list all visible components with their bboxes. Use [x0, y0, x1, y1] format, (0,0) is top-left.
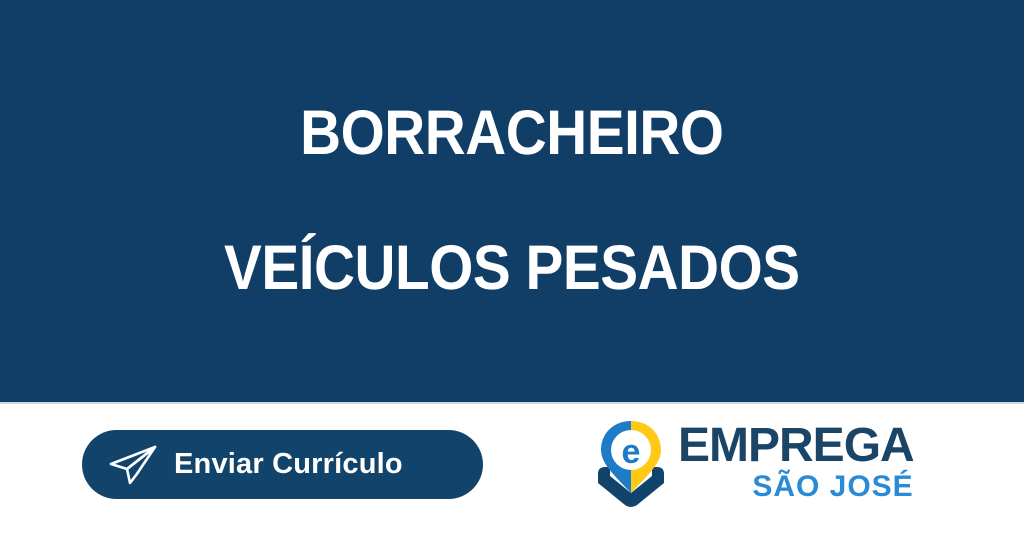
brand-name: EMPREGA — [678, 422, 914, 469]
send-resume-label: Enviar Currículo — [174, 448, 403, 481]
paper-plane-icon — [104, 442, 162, 488]
svg-text:e: e — [622, 433, 641, 471]
send-resume-button[interactable]: Enviar Currículo — [82, 430, 483, 499]
brand-logo[interactable]: e EMPREGA SÃO JOSÉ — [592, 419, 922, 511]
job-banner: BORRACHEIRO VEÍCULOS PESADOS — [0, 0, 1024, 402]
brand-city: SÃO JOSÉ — [752, 471, 913, 503]
page-title: BORRACHEIRO VEÍCULOS PESADOS — [206, 32, 818, 369]
job-title-line-2: VEÍCULOS PESADOS — [224, 235, 800, 302]
job-posting-card: BORRACHEIRO VEÍCULOS PESADOS Enviar Curr… — [0, 0, 1024, 536]
job-title-line-1: BORRACHEIRO — [224, 100, 800, 167]
location-pin-e-icon: e — [592, 419, 670, 507]
brand-wordmark: EMPREGA SÃO JOSÉ — [678, 419, 914, 503]
